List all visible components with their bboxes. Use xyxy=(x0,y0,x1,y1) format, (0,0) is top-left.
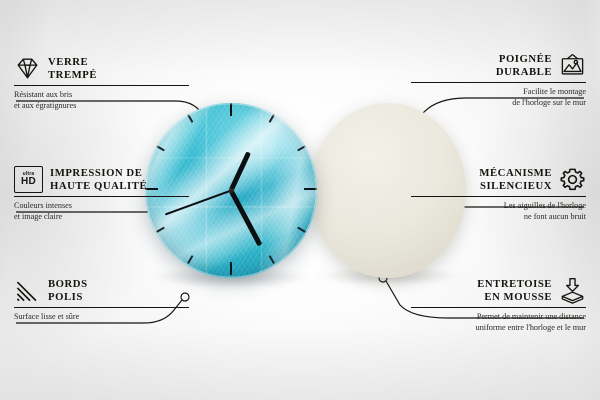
feature-mecanisme-silencieux: MÉCANISMESILENCIEUX Les aiguilles de l'h… xyxy=(411,166,586,223)
diamond-icon xyxy=(14,55,41,82)
feature-header: MÉCANISMESILENCIEUX xyxy=(411,166,586,193)
picture-frame-hanger-icon xyxy=(559,52,586,79)
feature-divider xyxy=(411,82,586,83)
feature-header: VERRETREMPÉ xyxy=(14,55,189,82)
feature-subtitle: Les aiguilles de l'horlogene font aucun … xyxy=(411,200,586,222)
feature-impression-haute-qualite: ultra HD IMPRESSION DEHAUTE QUALITÉ Coul… xyxy=(14,166,189,223)
feature-title: ENTRETOISEEN MOUSSE xyxy=(477,278,552,303)
feature-divider xyxy=(411,307,586,308)
arrow-down-onto-layer-icon xyxy=(559,277,586,304)
feature-divider xyxy=(411,196,586,197)
feature-title: BORDSPOLIS xyxy=(48,278,88,303)
polished-edge-icon xyxy=(14,277,41,304)
infographic-canvas: VERRETREMPÉ Résistant aux briset aux égr… xyxy=(0,0,600,400)
feature-title: VERRETREMPÉ xyxy=(48,56,97,81)
feature-poignee-durable: POIGNÉEDURABLE Facilite le montagede l'h… xyxy=(411,52,586,109)
feature-title: IMPRESSION DEHAUTE QUALITÉ xyxy=(50,167,147,192)
feature-entretoise-en-mousse: ENTRETOISEEN MOUSSE Permet de maintenir … xyxy=(411,277,586,334)
ultra-hd-icon-main: HD xyxy=(21,177,36,187)
feature-header: ultra HD IMPRESSION DEHAUTE QUALITÉ xyxy=(14,166,189,193)
feature-header: POIGNÉEDURABLE xyxy=(411,52,586,79)
ultra-hd-icon: ultra HD xyxy=(14,166,43,193)
feature-subtitle: Facilite le montagede l'horloge sur le m… xyxy=(411,86,586,108)
gear-icon xyxy=(559,166,586,193)
feature-header: BORDSPOLIS xyxy=(14,277,189,304)
feature-bords-polis: BORDSPOLIS Surface lisse et sûre xyxy=(14,277,189,322)
feature-subtitle: Surface lisse et sûre xyxy=(14,311,189,322)
feature-verre-trempe: VERRETREMPÉ Résistant aux briset aux égr… xyxy=(14,55,189,112)
feature-divider xyxy=(14,85,189,86)
feature-header: ENTRETOISEEN MOUSSE xyxy=(411,277,586,304)
feature-divider xyxy=(14,307,189,308)
feature-subtitle: Résistant aux briset aux égratignures xyxy=(14,89,189,111)
feature-subtitle: Permet de maintenir une distanceuniforme… xyxy=(411,311,586,333)
feature-title: MÉCANISMESILENCIEUX xyxy=(479,167,552,192)
feature-divider xyxy=(14,196,189,197)
feature-subtitle: Couleurs intenseset image claire xyxy=(14,200,189,222)
feature-title: POIGNÉEDURABLE xyxy=(496,53,552,78)
